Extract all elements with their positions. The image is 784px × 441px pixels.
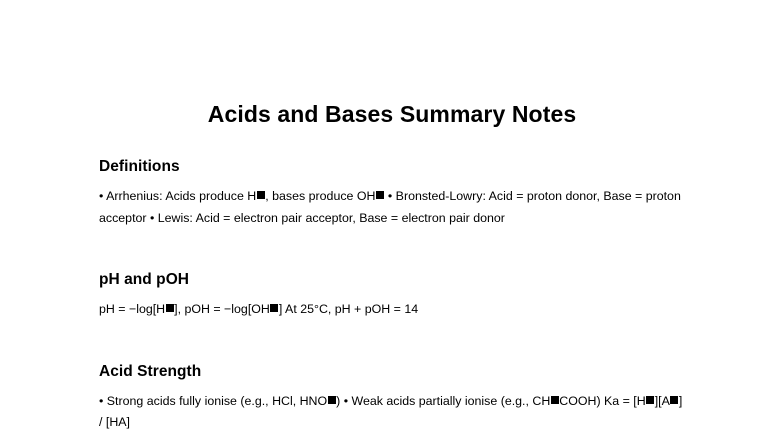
section-heading-definitions: Definitions <box>99 157 685 177</box>
document-page: Acids and Bases Summary Notes Definition… <box>0 0 784 441</box>
section-heading-acid-strength: Acid Strength <box>99 362 685 382</box>
section-ph-and-poh: pH and pOH pH = −log[H], pOH = −log[OH] … <box>99 270 685 321</box>
section-definitions: Definitions • Arrhenius: Acids produce H… <box>99 157 685 229</box>
missing-glyph-box <box>270 304 278 312</box>
missing-glyph-box <box>646 396 654 404</box>
section-body-acid-strength: • Strong acids fully ionise (e.g., HCl, … <box>99 391 685 434</box>
missing-glyph-box <box>670 396 678 404</box>
section-acid-strength: Acid Strength • Strong acids fully ionis… <box>99 362 685 434</box>
section-body-ph-and-poh: pH = −log[H], pOH = −log[OH] At 25°C, pH… <box>99 299 685 321</box>
missing-glyph-box <box>328 396 336 404</box>
missing-glyph-box <box>257 191 265 199</box>
missing-glyph-box <box>376 191 384 199</box>
section-heading-ph-and-poh: pH and pOH <box>99 270 685 290</box>
page-title: Acids and Bases Summary Notes <box>99 0 685 127</box>
missing-glyph-box <box>551 396 559 404</box>
section-body-definitions: • Arrhenius: Acids produce H, bases prod… <box>99 186 685 229</box>
missing-glyph-box <box>166 304 174 312</box>
